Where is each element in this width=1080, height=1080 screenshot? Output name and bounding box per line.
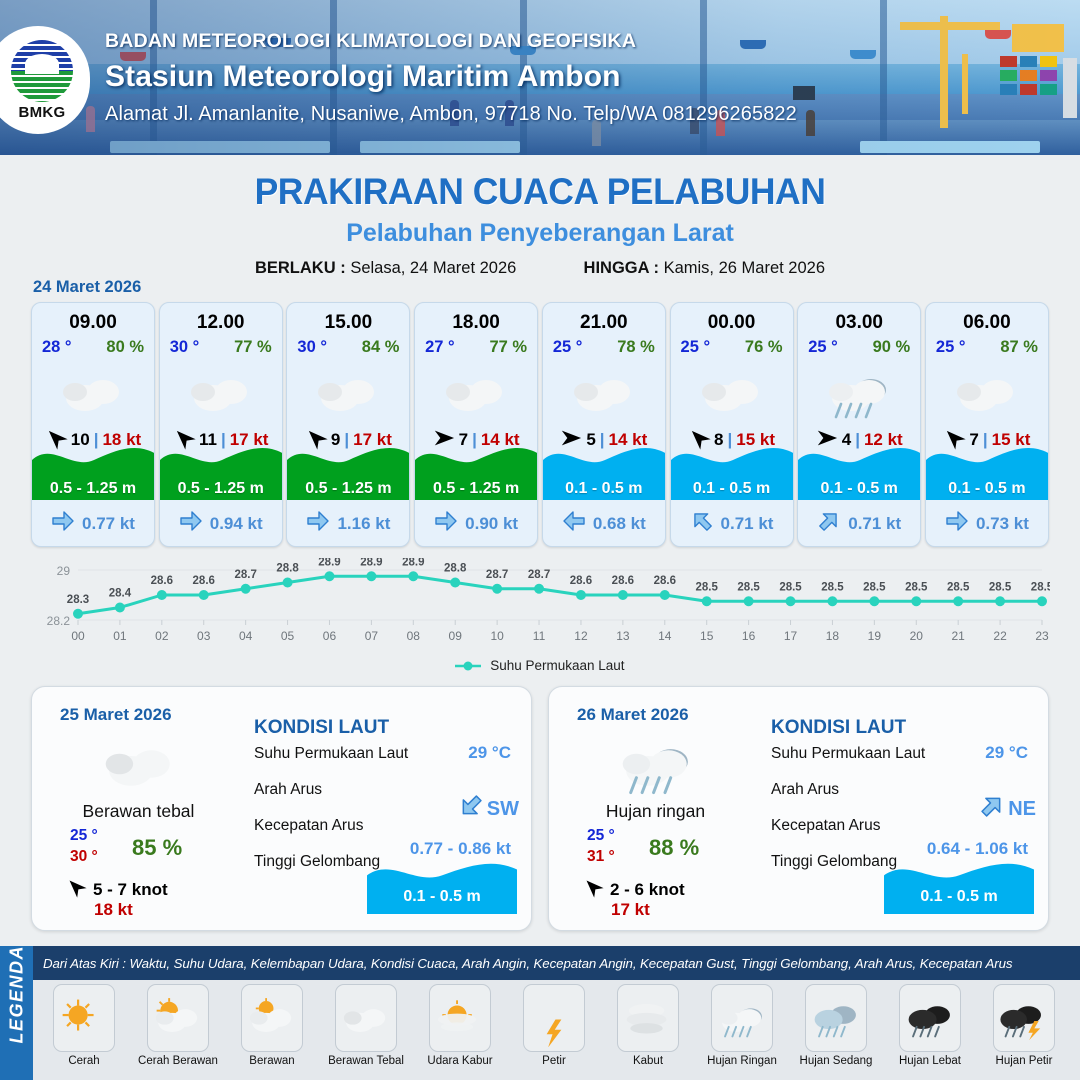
legend-item-label: Cerah bbox=[68, 1055, 99, 1067]
card-time: 03.00 bbox=[798, 312, 920, 334]
forecast-card[interactable]: 12.0030 °77 %11|17 kt0.5 - 1.25 m0.94 kt bbox=[159, 302, 283, 547]
day-gust: 18 kt bbox=[94, 900, 133, 920]
hingga-label: HINGGA : bbox=[584, 259, 659, 277]
svg-text:23: 23 bbox=[1035, 629, 1049, 643]
svg-text:07: 07 bbox=[365, 629, 379, 643]
chart-legend: Suhu Permukaan Laut bbox=[30, 658, 1050, 673]
card-current-speed: 0.68 kt bbox=[593, 514, 646, 534]
svg-text:15: 15 bbox=[700, 629, 714, 643]
day-humidity: 85 % bbox=[132, 835, 182, 861]
legend-section: LEGENDA Dari Atas Kiri : Waktu, Suhu Uda… bbox=[0, 946, 1080, 1080]
svg-text:28.6: 28.6 bbox=[654, 575, 676, 587]
legend-item: Hujan Lebat bbox=[885, 984, 975, 1080]
svg-text:28.8: 28.8 bbox=[444, 563, 467, 575]
day-wind-speed: 2 - 6 knot bbox=[610, 880, 685, 900]
card-wave-height: 0.1 - 0.5 m bbox=[671, 480, 793, 498]
card-time: 18.00 bbox=[415, 312, 537, 334]
svg-text:00: 00 bbox=[71, 629, 85, 643]
legend-cerah-berawan-icon bbox=[147, 984, 209, 1052]
svg-text:17: 17 bbox=[784, 629, 798, 643]
card-humidity: 77 % bbox=[490, 338, 528, 357]
card-current-speed: 1.16 kt bbox=[337, 514, 390, 534]
svg-text:28.8: 28.8 bbox=[276, 563, 299, 575]
agency-name: BADAN METEOROLOGI KLIMATOLOGI DAN GEOFIS… bbox=[105, 30, 797, 53]
page-subtitle: Pelabuhan Penyeberangan Larat bbox=[0, 219, 1080, 248]
day-temp-max: 31 ° bbox=[587, 846, 615, 867]
legend-item: Cerah Berawan bbox=[133, 984, 223, 1080]
card-humidity: 76 % bbox=[745, 338, 783, 357]
card-time: 15.00 bbox=[287, 312, 409, 334]
card-wave-height: 0.5 - 1.25 m bbox=[160, 480, 282, 498]
svg-text:28.7: 28.7 bbox=[528, 569, 550, 581]
day-wind-speed: 5 - 7 knot bbox=[93, 880, 168, 900]
legend-item-label: Kabut bbox=[633, 1055, 663, 1067]
day-date: 25 Maret 2026 bbox=[60, 705, 172, 725]
svg-text:28.6: 28.6 bbox=[570, 575, 592, 587]
day-temp-min: 25 ° bbox=[70, 825, 98, 846]
card-current-direction-arrow-icon bbox=[817, 509, 841, 538]
card-wave-height: 0.1 - 0.5 m bbox=[543, 480, 665, 498]
station-name: Stasiun Meteorologi Maritim Ambon bbox=[105, 60, 797, 94]
card-current-direction-arrow-icon bbox=[562, 509, 586, 538]
card-temperature: 25 ° bbox=[808, 338, 838, 357]
legend-hujan-lebat-icon bbox=[899, 984, 961, 1052]
card-current-direction-arrow-icon bbox=[690, 509, 714, 538]
sea-sst-label: Suhu Permukaan Laut bbox=[254, 745, 408, 762]
sea-current-speed-label: Kecepatan Arus bbox=[771, 817, 880, 834]
svg-text:28.6: 28.6 bbox=[193, 575, 215, 587]
forecast-card[interactable]: 21.0025 °78 %5|14 kt0.1 - 0.5 m0.68 kt bbox=[542, 302, 666, 547]
legend-item-label: Hujan Ringan bbox=[707, 1055, 777, 1067]
day-wind: 5 - 7 knot bbox=[66, 877, 168, 902]
svg-text:14: 14 bbox=[658, 629, 672, 643]
card-current-speed: 0.77 kt bbox=[82, 514, 135, 534]
legend-kabut-icon bbox=[617, 984, 679, 1052]
svg-text:28.7: 28.7 bbox=[486, 569, 508, 581]
legend-item-label: Berawan Tebal bbox=[328, 1055, 404, 1067]
card-wave-height: 0.5 - 1.25 m bbox=[415, 480, 537, 498]
legend-item-label: Hujan Sedang bbox=[800, 1055, 873, 1067]
legend-hujan-sedang-icon bbox=[805, 984, 867, 1052]
svg-text:29: 29 bbox=[57, 564, 71, 578]
forecast-card[interactable]: 18.0027 °77 %7|14 kt0.5 - 1.25 m0.90 kt bbox=[414, 302, 538, 547]
card-temperature: 30 ° bbox=[170, 338, 200, 357]
forecast-card[interactable]: 15.0030 °84 %9|17 kt0.5 - 1.25 m1.16 kt bbox=[286, 302, 410, 547]
card-humidity: 90 % bbox=[873, 338, 911, 357]
forecast-card[interactable]: 06.0025 °87 %7|15 kt0.1 - 0.5 m0.73 kt bbox=[925, 302, 1049, 547]
forecast-card[interactable]: 09.0028 °80 %10|18 kt0.5 - 1.25 m0.77 kt bbox=[31, 302, 155, 547]
sea-wave-label: Tinggi Gelombang bbox=[771, 853, 897, 870]
svg-text:28.9: 28.9 bbox=[318, 558, 340, 568]
card-current-direction-arrow-icon bbox=[51, 509, 75, 538]
day-humidity: 88 % bbox=[649, 835, 699, 861]
card-humidity: 78 % bbox=[617, 338, 655, 357]
svg-text:28.7: 28.7 bbox=[234, 569, 256, 581]
svg-text:28.5: 28.5 bbox=[737, 581, 760, 593]
bmkg-logo-text: BMKG bbox=[18, 104, 65, 121]
legend-icon-row: CerahCerah BerawanBerawanBerawan TebalUd… bbox=[33, 980, 1080, 1080]
svg-text:28.5: 28.5 bbox=[947, 581, 970, 593]
card-time: 12.00 bbox=[160, 312, 282, 334]
card-weather-berawan-icon bbox=[543, 361, 665, 423]
svg-text:18: 18 bbox=[826, 629, 840, 643]
legend-item: Hujan Ringan bbox=[697, 984, 787, 1080]
berlaku-label: BERLAKU : bbox=[255, 259, 346, 277]
day-wave-height: 0.1 - 0.5 m bbox=[367, 888, 517, 906]
legend-petir-icon bbox=[523, 984, 585, 1052]
legend-note: Dari Atas Kiri : Waktu, Suhu Udara, Kele… bbox=[33, 946, 1080, 980]
card-weather-berawan-icon bbox=[287, 361, 409, 423]
sea-current-dir-label: Arah Arus bbox=[254, 781, 322, 798]
hingga-value: Kamis, 26 Maret 2026 bbox=[664, 259, 825, 277]
card-time: 06.00 bbox=[926, 312, 1048, 334]
svg-text:20: 20 bbox=[910, 629, 924, 643]
legend-berawan-sun-icon bbox=[241, 984, 303, 1052]
svg-text:16: 16 bbox=[742, 629, 756, 643]
svg-text:28.6: 28.6 bbox=[612, 575, 634, 587]
card-weather-berawan-icon bbox=[671, 361, 793, 423]
card-temperature: 25 ° bbox=[936, 338, 966, 357]
svg-text:01: 01 bbox=[113, 629, 127, 643]
sea-condition-title: KONDISI LAUT bbox=[254, 717, 389, 739]
sea-condition-title: KONDISI LAUT bbox=[771, 717, 906, 739]
legend-item-label: Berawan bbox=[249, 1055, 294, 1067]
svg-text:19: 19 bbox=[868, 629, 882, 643]
card-weather-berawan-icon bbox=[926, 361, 1048, 423]
card-weather-berawan-icon bbox=[32, 361, 154, 423]
page-title: PRAKIRAAN CUACA PELABUHAN bbox=[22, 171, 1059, 213]
page-header: BMKG BADAN METEOROLOGI KLIMATOLOGI DAN G… bbox=[0, 0, 1080, 155]
legend-item: Berawan Tebal bbox=[321, 984, 411, 1080]
card-humidity: 80 % bbox=[106, 338, 144, 357]
svg-text:22: 22 bbox=[993, 629, 1007, 643]
chart-legend-label: Suhu Permukaan Laut bbox=[490, 658, 624, 673]
svg-text:02: 02 bbox=[155, 629, 169, 643]
card-humidity: 87 % bbox=[1000, 338, 1038, 357]
svg-text:28.5: 28.5 bbox=[1031, 581, 1050, 593]
card-humidity: 77 % bbox=[234, 338, 272, 357]
day-forecast-panel[interactable]: 25 Maret 2026Berawan tebal25 °30 °85 %5 … bbox=[31, 686, 532, 931]
day-wave-height: 0.1 - 0.5 m bbox=[884, 888, 1034, 906]
legend-udara-kabur-icon bbox=[429, 984, 491, 1052]
svg-text:03: 03 bbox=[197, 629, 211, 643]
card-wave-height: 0.5 - 1.25 m bbox=[287, 480, 409, 498]
legend-item: Cerah bbox=[39, 984, 129, 1080]
svg-text:28.9: 28.9 bbox=[360, 558, 382, 568]
card-weather-berawan-icon bbox=[415, 361, 537, 423]
forecast-date-label: 24 Maret 2026 bbox=[33, 278, 141, 297]
day-weather-berawan-tebal-icon bbox=[87, 731, 192, 797]
legend-item-label: Petir bbox=[542, 1055, 566, 1067]
day-wind-direction-arrow-icon bbox=[66, 877, 86, 902]
svg-text:10: 10 bbox=[490, 629, 504, 643]
day-forecast-panel[interactable]: 26 Maret 2026Hujan ringan25 °31 °88 %2 -… bbox=[548, 686, 1049, 931]
card-wave-height: 0.5 - 1.25 m bbox=[32, 480, 154, 498]
svg-text:28.5: 28.5 bbox=[821, 581, 844, 593]
legend-hujan-petir-icon bbox=[993, 984, 1055, 1052]
svg-text:21: 21 bbox=[951, 629, 965, 643]
card-temperature: 25 ° bbox=[553, 338, 583, 357]
legend-item: Hujan Sedang bbox=[791, 984, 881, 1080]
card-wave-height: 0.1 - 0.5 m bbox=[926, 480, 1048, 498]
card-current-speed: 0.90 kt bbox=[465, 514, 518, 534]
svg-text:28.9: 28.9 bbox=[402, 558, 424, 568]
forecast-card[interactable]: 03.0025 °90 %4|12 kt0.1 - 0.5 m0.71 kt bbox=[797, 302, 921, 547]
legend-item: Kabut bbox=[603, 984, 693, 1080]
day-weather-hujan-ringan-icon bbox=[604, 731, 709, 797]
svg-text:11: 11 bbox=[533, 629, 546, 643]
svg-text:28.6: 28.6 bbox=[151, 575, 173, 587]
day-date: 26 Maret 2026 bbox=[577, 705, 689, 725]
validity-row: BERLAKU : Selasa, 24 Maret 2026 HINGGA :… bbox=[0, 259, 1080, 278]
legend-item: Petir bbox=[509, 984, 599, 1080]
legend-item: Hujan Petir bbox=[979, 984, 1069, 1080]
day-gust: 17 kt bbox=[611, 900, 650, 920]
card-time: 21.00 bbox=[543, 312, 665, 334]
card-current-speed: 0.71 kt bbox=[848, 514, 901, 534]
legend-sidebar: LEGENDA bbox=[0, 946, 33, 1080]
card-current-direction-arrow-icon bbox=[945, 509, 969, 538]
forecast-card-row: 09.0028 °80 %10|18 kt0.5 - 1.25 m0.77 kt… bbox=[31, 302, 1049, 547]
legend-item-label: Udara Kabur bbox=[427, 1055, 492, 1067]
sea-wave-label: Tinggi Gelombang bbox=[254, 853, 380, 870]
sea-sst-label: Suhu Permukaan Laut bbox=[771, 745, 925, 762]
sea-sst-value: 29 °C bbox=[468, 743, 511, 763]
svg-text:28.5: 28.5 bbox=[863, 581, 886, 593]
day-temp-max: 30 ° bbox=[70, 846, 98, 867]
svg-text:05: 05 bbox=[281, 629, 295, 643]
card-time: 00.00 bbox=[671, 312, 793, 334]
sea-current-dir-label: Arah Arus bbox=[771, 781, 839, 798]
svg-text:28.3: 28.3 bbox=[67, 594, 89, 606]
legend-hujan-ringan-icon bbox=[711, 984, 773, 1052]
legend-sidebar-label: LEGENDA bbox=[7, 958, 28, 1044]
day-wind: 2 - 6 knot bbox=[583, 877, 685, 902]
card-current-direction-arrow-icon bbox=[434, 509, 458, 538]
card-current-speed: 0.94 kt bbox=[210, 514, 263, 534]
legend-item: Udara Kabur bbox=[415, 984, 505, 1080]
svg-text:28.5: 28.5 bbox=[989, 581, 1012, 593]
svg-text:28.4: 28.4 bbox=[109, 588, 132, 600]
legend-cerah-icon bbox=[53, 984, 115, 1052]
svg-text:28.5: 28.5 bbox=[696, 581, 719, 593]
card-wave-height: 0.1 - 0.5 m bbox=[798, 480, 920, 498]
card-current-speed: 0.71 kt bbox=[721, 514, 774, 534]
svg-text:28.2: 28.2 bbox=[47, 614, 71, 628]
day-forecast-panels: 25 Maret 2026Berawan tebal25 °30 °85 %5 … bbox=[31, 686, 1049, 931]
svg-text:04: 04 bbox=[239, 629, 253, 643]
day-temp-min: 25 ° bbox=[587, 825, 615, 846]
svg-text:06: 06 bbox=[323, 629, 337, 643]
legend-line-marker bbox=[455, 660, 481, 672]
header-text-block: BADAN METEOROLOGI KLIMATOLOGI DAN GEOFIS… bbox=[105, 30, 797, 126]
legend-item-label: Hujan Petir bbox=[996, 1055, 1053, 1067]
card-current-direction-arrow-icon bbox=[306, 509, 330, 538]
card-humidity: 84 % bbox=[362, 338, 400, 357]
berlaku-value: Selasa, 24 Maret 2026 bbox=[350, 259, 516, 277]
card-temperature: 28 ° bbox=[42, 338, 72, 357]
card-current-direction-arrow-icon bbox=[179, 509, 203, 538]
card-temperature: 25 ° bbox=[681, 338, 711, 357]
day-wind-direction-arrow-icon bbox=[583, 877, 603, 902]
forecast-card[interactable]: 00.0025 °76 %8|15 kt0.1 - 0.5 m0.71 kt bbox=[670, 302, 794, 547]
card-weather-hujan-ringan-icon bbox=[798, 361, 920, 423]
day-condition: Berawan tebal bbox=[46, 801, 231, 822]
sea-sst-value: 29 °C bbox=[985, 743, 1028, 763]
station-address: Alamat Jl. Amanlanite, Nusaniwe, Ambon, … bbox=[105, 103, 797, 126]
bmkg-logo-icon bbox=[11, 40, 73, 102]
legend-item: Berawan bbox=[227, 984, 317, 1080]
legend-item-label: Cerah Berawan bbox=[138, 1055, 218, 1067]
legend-berawan-tebal-icon bbox=[335, 984, 397, 1052]
svg-text:08: 08 bbox=[407, 629, 421, 643]
svg-text:09: 09 bbox=[449, 629, 463, 643]
card-weather-berawan-icon bbox=[160, 361, 282, 423]
title-block: PRAKIRAAN CUACA PELABUHAN Pelabuhan Peny… bbox=[0, 171, 1080, 278]
day-condition: Hujan ringan bbox=[563, 801, 748, 822]
svg-text:28.5: 28.5 bbox=[905, 581, 928, 593]
svg-text:28.5: 28.5 bbox=[779, 581, 802, 593]
card-time: 09.00 bbox=[32, 312, 154, 334]
legend-item-label: Hujan Lebat bbox=[899, 1055, 961, 1067]
svg-text:13: 13 bbox=[616, 629, 630, 643]
svg-text:12: 12 bbox=[574, 629, 588, 643]
sea-current-speed-label: Kecepatan Arus bbox=[254, 817, 363, 834]
sst-chart: 2928.228.30028.40128.60228.60328.70428.8… bbox=[30, 558, 1050, 678]
card-current-speed: 0.73 kt bbox=[976, 514, 1029, 534]
card-temperature: 30 ° bbox=[297, 338, 327, 357]
card-temperature: 27 ° bbox=[425, 338, 455, 357]
